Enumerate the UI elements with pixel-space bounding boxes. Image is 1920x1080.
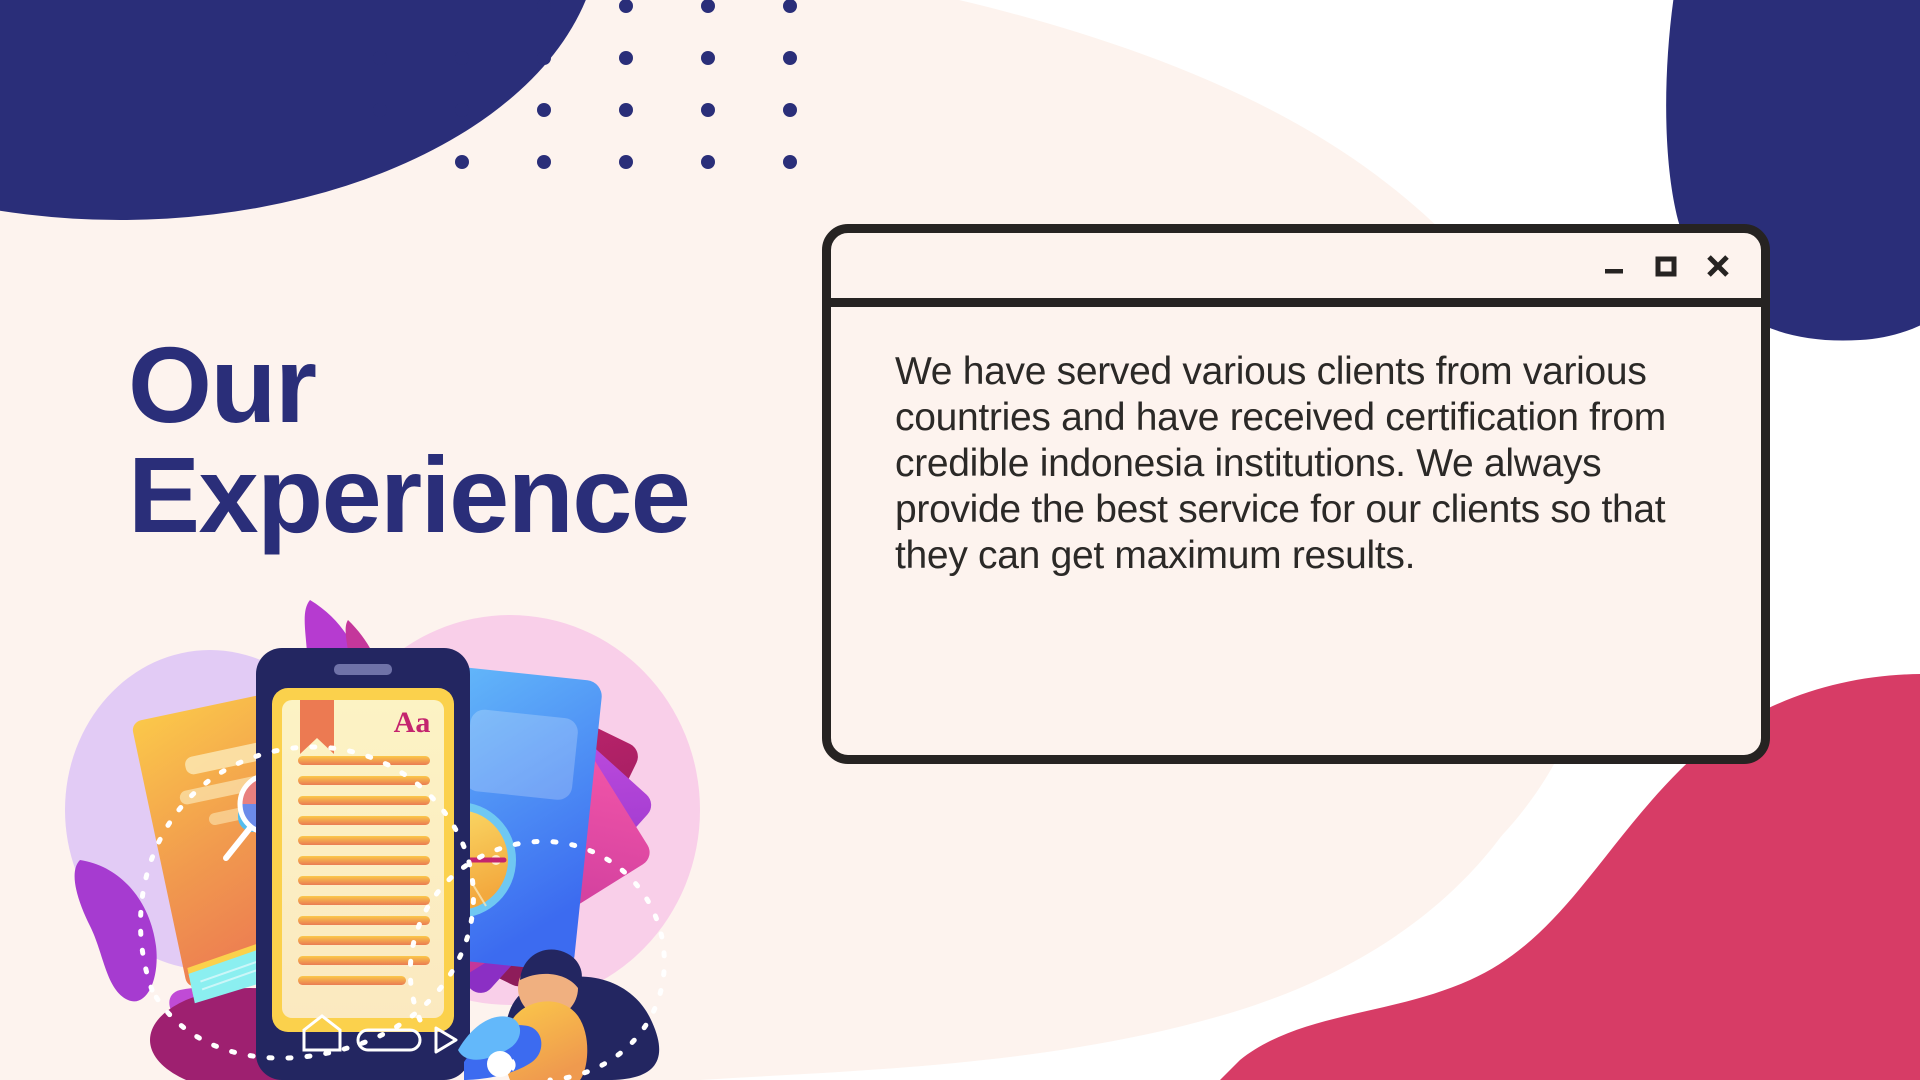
window-body-text: We have served various clients from vari… xyxy=(895,349,1705,579)
minimize-button[interactable] xyxy=(1601,251,1627,281)
content-window: We have served various clients from vari… xyxy=(822,224,1770,764)
cup-icon xyxy=(487,1051,513,1077)
minimize-icon xyxy=(1605,269,1623,274)
reading-illustration: Aa xyxy=(60,560,740,1080)
window-body: We have served various clients from vari… xyxy=(831,307,1761,755)
maximize-icon xyxy=(1658,259,1674,274)
close-icon xyxy=(1709,257,1727,275)
maximize-button[interactable] xyxy=(1653,251,1679,281)
window-frame: We have served various clients from vari… xyxy=(822,224,1770,764)
page-title: Our Experience xyxy=(128,330,768,550)
slide-root: Our Experience xyxy=(0,0,1920,1080)
tablet-reader: Aa xyxy=(256,648,470,1080)
tablet-font-label: Aa xyxy=(394,706,431,739)
close-button[interactable] xyxy=(1705,251,1731,281)
page-title-line-1: Our xyxy=(128,330,768,440)
page-title-line-2: Experience xyxy=(128,440,768,550)
window-titlebar xyxy=(831,233,1761,307)
